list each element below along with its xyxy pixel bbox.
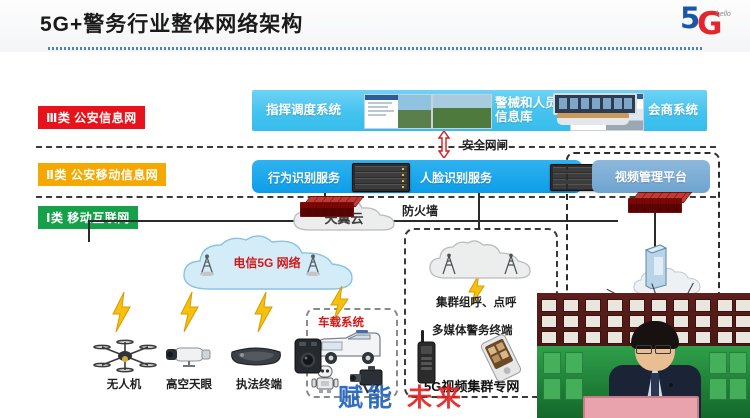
label-drone: 无人机: [94, 376, 154, 392]
presenter-laptop: [583, 396, 699, 418]
label-consultation-system: 会商系统: [648, 103, 698, 117]
double-arrow-up-down-icon: [437, 131, 451, 158]
video-server-tower-icon: [643, 243, 669, 289]
tier2-services-bar: 行为识别服务 人脸识别服务: [252, 160, 582, 193]
firewall-brick-icon-1: [300, 196, 352, 218]
label-behavior-recognition-service: 行为识别服务: [268, 169, 340, 186]
db-label-line2: 信息库: [495, 110, 533, 124]
label-high-altitude-eye: 高空天眼: [158, 376, 220, 392]
label-firewall: 防火墙: [402, 202, 438, 219]
presenter-video-overlay[interactable]: [537, 293, 750, 418]
label-security-gateway: 安全网闸: [462, 137, 508, 153]
walkie-talkie-icon: [416, 330, 438, 384]
dashboard-screenshot-icon: [364, 94, 432, 129]
conference-room-icon: [551, 92, 635, 129]
label-group-call: 集群组呼、点呼: [436, 294, 517, 310]
lightning-icon-2: [178, 292, 200, 332]
map-screenshot-icon: [432, 94, 492, 129]
body-camera-icon: [294, 338, 322, 374]
cell-tower-icon-right: [304, 254, 322, 276]
lightning-icon-1: [110, 292, 132, 332]
tier-divider-upper: [36, 146, 716, 148]
db-label-line1: 警械和人员: [495, 96, 558, 110]
label-face-recognition-service: 人脸识别服务: [420, 169, 492, 186]
smart-glasses-icon: [228, 346, 284, 368]
cluster-tower-icon-left: [440, 253, 458, 275]
police-van-icon: [312, 330, 386, 366]
firewall-brick-icon-2: [628, 192, 680, 214]
drone-icon: [92, 338, 158, 374]
header-divider: [48, 47, 703, 50]
cluster-tower-icon-right: [502, 253, 520, 275]
server-rack-icon-behavior: [352, 163, 410, 192]
bullet-camera-icon: [164, 342, 214, 368]
watermark-blue-text: 赋能: [338, 384, 396, 412]
slide-header: 5G+警务行业整体网络架构 5 G hello: [0, 0, 750, 52]
watermark-red-text: 未来: [407, 384, 465, 412]
tier-label-public-security-net: Ⅲ类 公安信息网: [38, 106, 145, 129]
five-g-logo-icon: 5 G hello: [680, 2, 736, 42]
lightning-icon-3: [252, 292, 274, 332]
label-law-enforcement-terminal: 执法终端: [226, 376, 292, 392]
label-equipment-personnel-database: 警械和人员 信息库: [495, 96, 558, 125]
page-title: 5G+警务行业整体网络架构: [40, 8, 303, 38]
label-vehicle-system: 车载系统: [318, 314, 364, 330]
cloud-cluster-network: [424, 240, 536, 284]
logo-tagline: hello: [716, 11, 731, 18]
cell-tower-icon-left: [198, 254, 216, 276]
link-left-drop: [88, 220, 90, 242]
tier-label-mobile-police-net: Ⅱ类 公安移动信息网: [38, 163, 166, 186]
watermark: 赋能 未来: [338, 378, 465, 414]
tier3-systems-bar: 指挥调度系统 警械和人员 信息库: [252, 90, 707, 131]
label-command-dispatch-system: 指挥调度系统: [266, 103, 341, 117]
link-cluster-region: [478, 193, 480, 230]
slide-canvas: 5G+警务行业整体网络架构 5 G hello Ⅲ类 公安信息网 Ⅱ类 公安移动…: [0, 0, 750, 418]
